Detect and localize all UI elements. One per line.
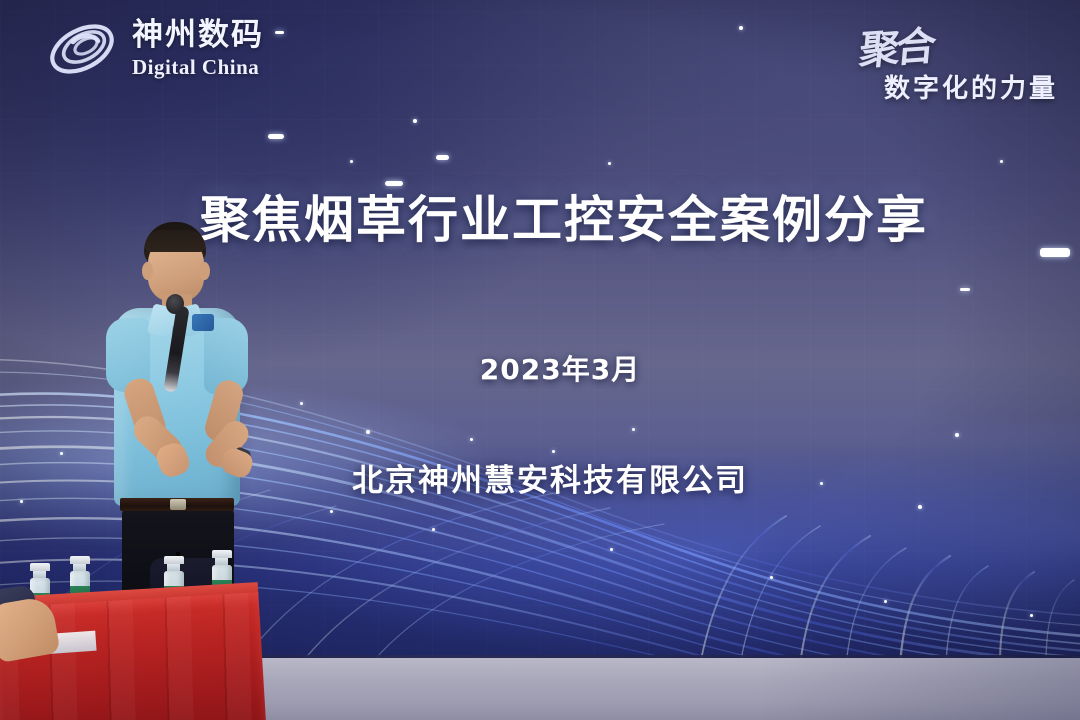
brand-logo: 神州数码 Digital China bbox=[46, 18, 264, 80]
event-subtitle: 数字化的力量 bbox=[884, 68, 1058, 105]
speaker-hair-fringe bbox=[145, 230, 205, 252]
event-logo: 聚合 数字化的力量 bbox=[860, 16, 1058, 105]
speaker-ear-right bbox=[199, 262, 210, 280]
event-calligraphy: 聚合 bbox=[857, 14, 935, 77]
brand-name-cn: 神州数码 bbox=[132, 20, 264, 51]
brand-name-en: Digital China bbox=[132, 57, 264, 78]
conference-photo: 神州数码 Digital China 聚合 数字化的力量 聚焦烟草行业工控安全案… bbox=[0, 0, 1080, 720]
brand-text: 神州数码 Digital China bbox=[132, 20, 264, 78]
speaker-ear-left bbox=[142, 262, 153, 280]
speaker-chest-logo-icon bbox=[192, 314, 214, 331]
digital-china-swirl-icon bbox=[46, 18, 118, 80]
speaker-belt-buckle bbox=[170, 499, 186, 510]
